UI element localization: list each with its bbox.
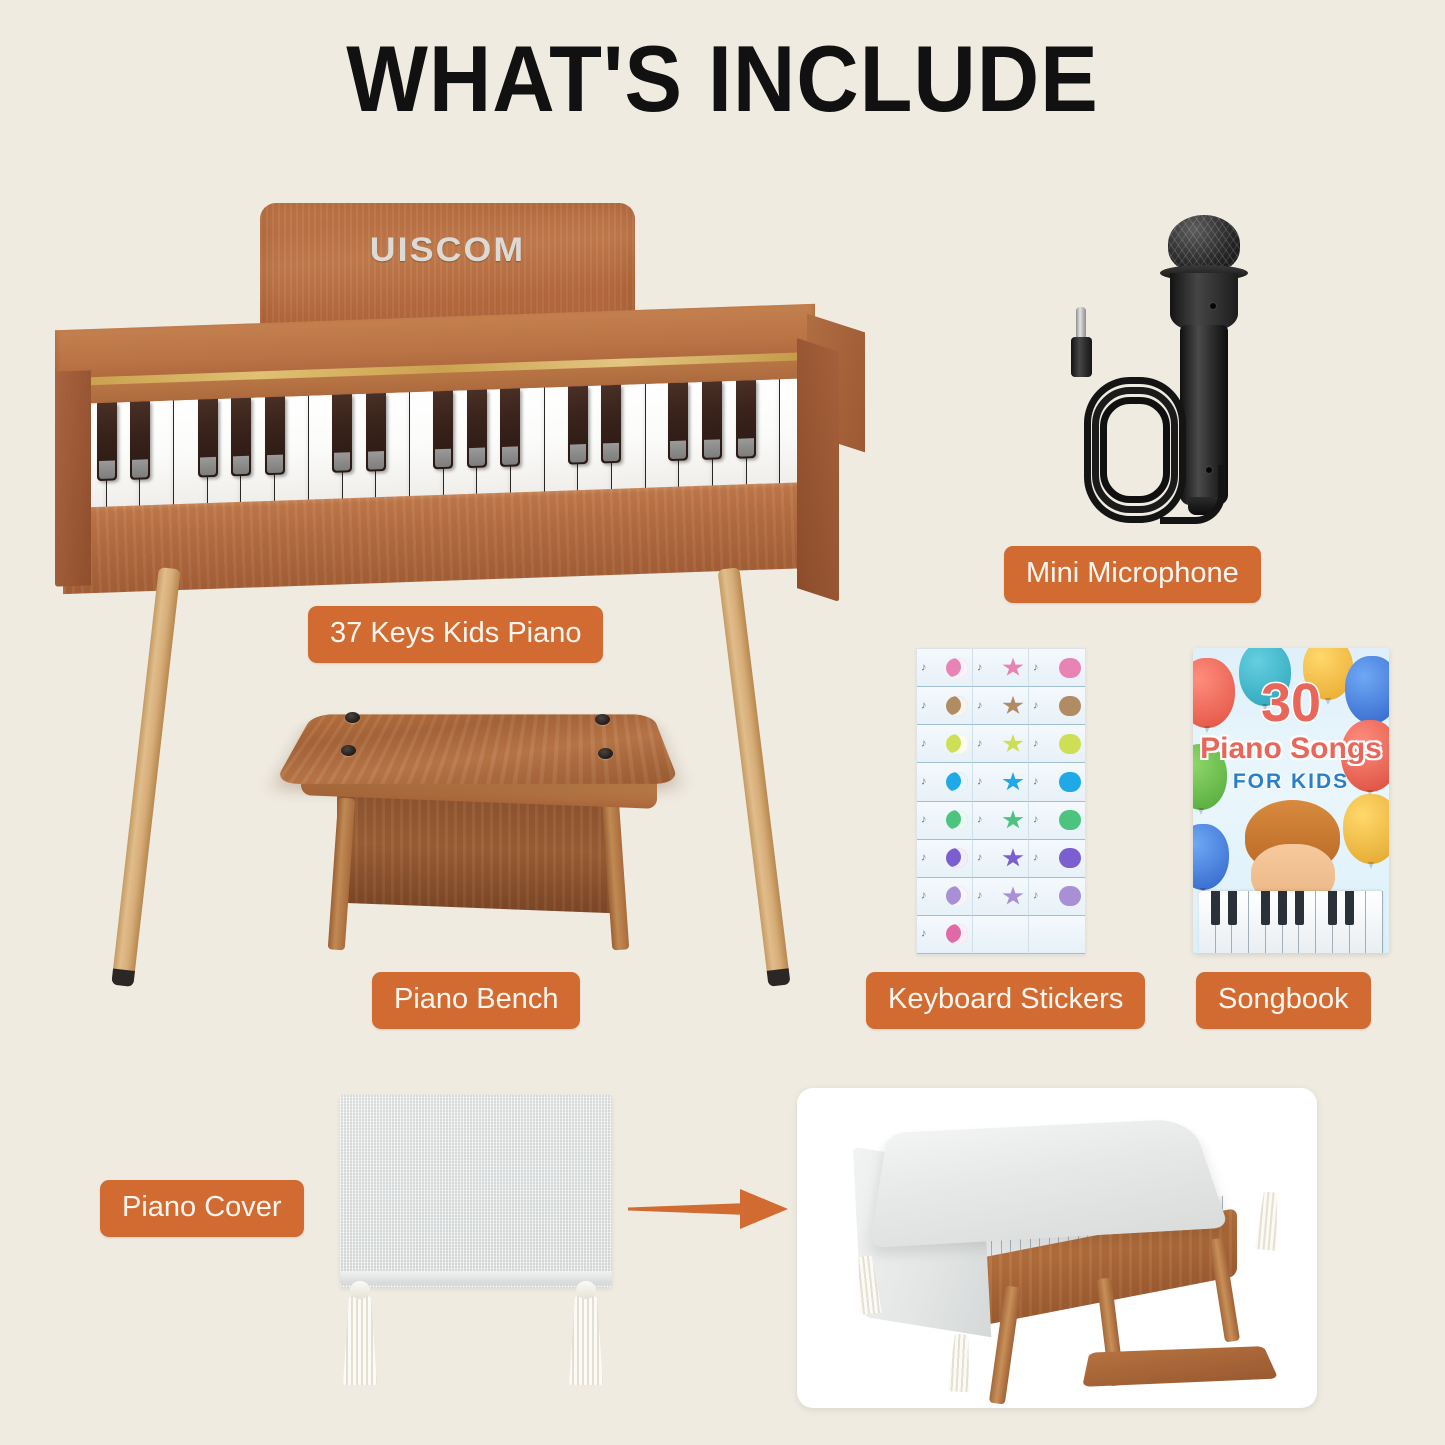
piano-leg-tip-right (767, 968, 791, 987)
songbook-title: Piano Songs (1193, 732, 1389, 766)
music-note-icon: ♪ (921, 891, 927, 902)
black-key[interactable] (433, 391, 453, 470)
infographic-canvas: WHAT'S INCLUDE UISCOM 37 Keys Kids Piano (0, 0, 1445, 1445)
mini-microphone-illustration (1060, 215, 1320, 535)
sticker-cell (1029, 916, 1085, 954)
cover-tassel-left-knot (350, 1281, 370, 1299)
songbook-black-key (1278, 891, 1287, 925)
sticker-cell: ♪ (973, 840, 1029, 878)
songbook-number: 30 (1193, 672, 1389, 734)
sticker-cell: ♪ (973, 802, 1029, 840)
inset-tassel-front (947, 1333, 972, 1392)
black-key[interactable] (736, 380, 756, 459)
sticker-cell: ♪ (973, 878, 1029, 916)
music-note-icon: ♪ (977, 815, 983, 826)
microphone-plug-body (1071, 337, 1092, 377)
sticker-star-icon (1002, 848, 1024, 868)
music-note-icon: ♪ (921, 662, 927, 673)
bench-screw-3 (595, 714, 610, 725)
music-note-icon: ♪ (977, 891, 983, 902)
cover-in-use-inset-photo (797, 1088, 1317, 1408)
cover-cloth (340, 1095, 612, 1287)
microphone-neck (1170, 273, 1238, 331)
songbook-black-key (1211, 891, 1220, 925)
arrow-shaft (628, 1203, 748, 1215)
cover-tassel-left (342, 1281, 378, 1385)
brand-logo: UISCOM (260, 231, 635, 270)
badge-cover: Piano Cover (100, 1180, 304, 1237)
badge-microphone: Mini Microphone (1004, 546, 1261, 603)
sticker-cell (973, 916, 1029, 954)
inset-bench (1082, 1346, 1278, 1387)
black-key[interactable] (130, 401, 150, 480)
sticker-star-icon (1002, 734, 1024, 754)
music-note-icon: ♪ (977, 662, 983, 673)
piano-leg-right (717, 567, 790, 987)
cover-tassel-right (568, 1281, 604, 1385)
sticker-cell: ♪ (1029, 687, 1085, 725)
sticker-moon-icon (946, 658, 968, 678)
black-key[interactable] (366, 393, 386, 472)
sticker-moon-icon (946, 924, 968, 944)
music-note-icon: ♪ (1033, 700, 1039, 711)
sticker-cell: ♪ (973, 725, 1029, 763)
sticker-moon-icon (946, 886, 968, 906)
sticker-moon-icon (946, 734, 968, 754)
music-note-icon: ♪ (1033, 891, 1039, 902)
sticker-moon-icon (946, 696, 968, 716)
songbook-black-key (1295, 891, 1304, 925)
sticker-cell: ♪ (917, 687, 973, 725)
badge-songbook: Songbook (1196, 972, 1371, 1029)
sticker-cell: ♪ (1029, 725, 1085, 763)
music-note-icon: ♪ (977, 700, 983, 711)
sticker-cell: ♪ (1029, 649, 1085, 687)
page-title: WHAT'S INCLUDE (58, 30, 1387, 129)
sticker-moon-icon (946, 772, 968, 792)
music-note-icon: ♪ (921, 700, 927, 711)
sticker-cell: ♪ (917, 916, 973, 954)
music-note-icon: ♪ (1033, 776, 1039, 787)
sticker-star-icon (1002, 810, 1024, 830)
songbook-subtitle: FOR KIDS (1193, 770, 1389, 794)
sticker-blob-icon (1059, 810, 1081, 830)
music-note-icon: ♪ (977, 738, 983, 749)
cover-tassel-left-skirt (343, 1295, 377, 1385)
piano-leg-left (111, 567, 180, 987)
badge-piano: 37 Keys Kids Piano (308, 606, 603, 663)
cover-tassel-right-skirt (569, 1295, 603, 1385)
black-key[interactable] (198, 399, 218, 478)
sticker-cell: ♪ (973, 649, 1029, 687)
sticker-blob-icon (1059, 848, 1081, 868)
sticker-cell: ♪ (1029, 878, 1085, 916)
black-key[interactable] (332, 394, 352, 473)
music-note-icon: ♪ (921, 853, 927, 864)
cover-tassel-right-knot (576, 1281, 596, 1299)
sticker-star-icon (1002, 772, 1024, 792)
keyboard-stickers-sheet: ♪♪♪♪♪♪♪♪♪♪♪♪♪♪♪♪♪♪♪♪♪♪ (916, 648, 1086, 955)
microphone-cable-tail (1160, 465, 1225, 524)
inset-cover-over-piano (870, 1118, 1229, 1248)
sticker-cell: ♪ (917, 878, 973, 916)
songbook-illustration: 30 Piano Songs FOR KIDS (1193, 648, 1389, 953)
songbook-black-key (1261, 891, 1270, 925)
music-note-icon: ♪ (921, 929, 927, 940)
arrow-head (740, 1189, 788, 1229)
sticker-blob-icon (1059, 886, 1081, 906)
black-key[interactable] (500, 388, 520, 467)
sticker-blob-icon (1059, 658, 1081, 678)
music-note-icon: ♪ (977, 776, 983, 787)
bench-screw-4 (598, 748, 613, 759)
sticker-moon-icon (946, 810, 968, 830)
black-key[interactable] (265, 397, 285, 476)
inset-tassel-right (1255, 1191, 1282, 1251)
sticker-blob-icon (1059, 772, 1081, 792)
sticker-cell: ♪ (973, 763, 1029, 801)
black-key[interactable] (702, 381, 722, 460)
sticker-cell: ♪ (1029, 802, 1085, 840)
black-key[interactable] (467, 389, 487, 468)
sticker-cell: ♪ (917, 763, 973, 801)
songbook-white-key (1366, 891, 1383, 953)
sticker-moon-icon (946, 848, 968, 868)
sticker-cell: ♪ (1029, 763, 1085, 801)
microphone-switch-dot (1210, 303, 1216, 309)
music-note-icon: ♪ (977, 853, 983, 864)
sticker-star-icon (1002, 886, 1024, 906)
piano-cover-illustration (340, 1095, 630, 1395)
sticker-star-icon (1002, 658, 1024, 678)
bench-screw-1 (345, 712, 360, 723)
songbook-balloon-8 (1193, 824, 1229, 890)
black-key[interactable] (231, 398, 251, 477)
sticker-cell: ♪ (973, 687, 1029, 725)
bench-screw-2 (341, 745, 356, 756)
songbook-balloon-7 (1343, 794, 1389, 864)
music-note-icon: ♪ (921, 738, 927, 749)
sticker-cell: ♪ (917, 840, 973, 878)
songbook-piano-graphic (1199, 891, 1383, 953)
piano-cheek-left (55, 370, 91, 586)
black-key[interactable] (601, 385, 621, 464)
piano-leg-tip-left (111, 969, 135, 987)
music-note-icon: ♪ (921, 776, 927, 787)
sticker-cell: ♪ (917, 725, 973, 763)
bench-seat-top (274, 714, 680, 783)
sticker-cell: ♪ (917, 802, 973, 840)
badge-stickers: Keyboard Stickers (866, 972, 1145, 1029)
bench-apron (337, 793, 617, 914)
flow-arrow-right-icon (628, 1185, 798, 1233)
music-note-icon: ♪ (1033, 738, 1039, 749)
music-note-icon: ♪ (1033, 662, 1039, 673)
black-key[interactable] (97, 402, 117, 481)
songbook-black-key (1328, 891, 1337, 925)
sticker-star-icon (1002, 696, 1024, 716)
music-note-icon: ♪ (921, 815, 927, 826)
sticker-blob-icon (1059, 696, 1081, 716)
music-note-icon: ♪ (1033, 815, 1039, 826)
songbook-black-key (1345, 891, 1354, 925)
songbook-black-key (1228, 891, 1237, 925)
badge-bench: Piano Bench (372, 972, 580, 1029)
sticker-cell: ♪ (1029, 840, 1085, 878)
black-key[interactable] (568, 386, 588, 465)
sticker-cell: ♪ (917, 649, 973, 687)
piano-bench-illustration (285, 690, 675, 965)
music-note-icon: ♪ (1033, 853, 1039, 864)
microphone-plug-tip (1076, 307, 1086, 341)
black-key[interactable] (668, 382, 688, 461)
sticker-blob-icon (1059, 734, 1081, 754)
piano-cheek-right (797, 338, 839, 602)
